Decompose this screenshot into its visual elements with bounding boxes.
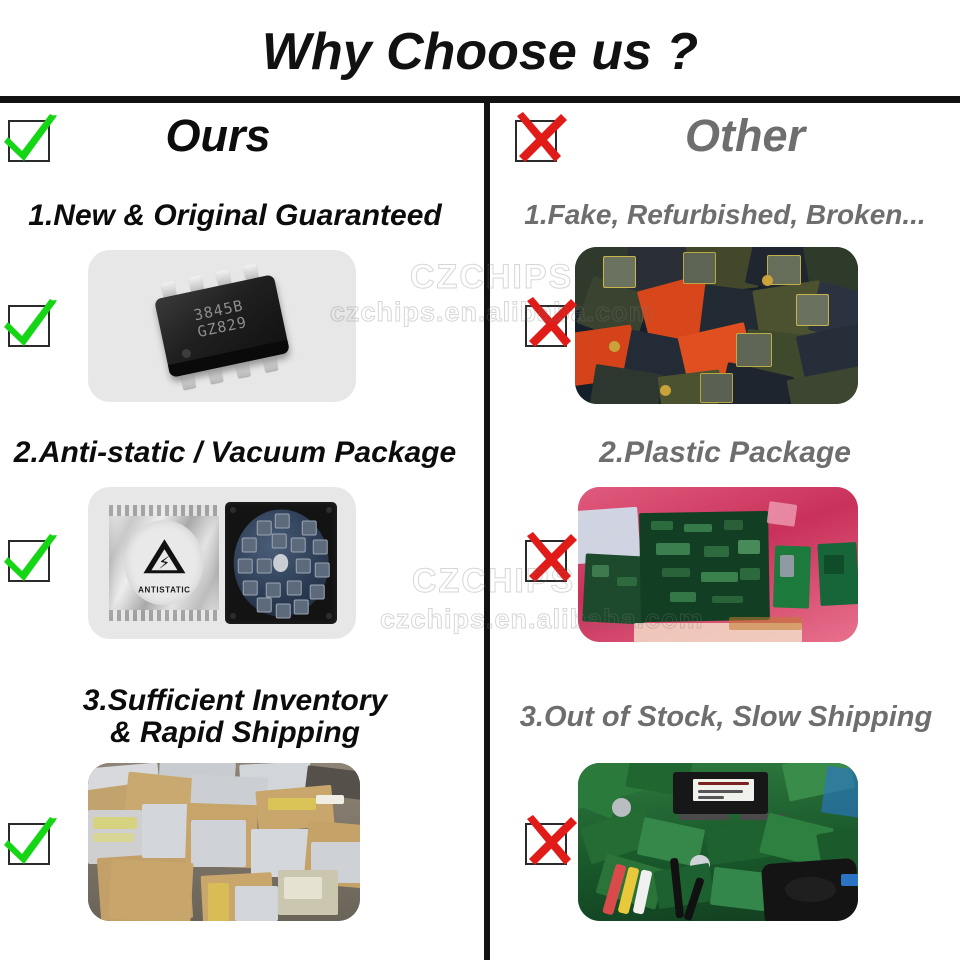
column-divider	[484, 96, 490, 960]
lightning-bolt-icon: ⚡	[158, 554, 170, 571]
why-choose-us-infographic: Why Choose us ? Ours Other 1.New & Origi…	[0, 0, 960, 960]
plastic-bag-pcb-mosaic	[578, 487, 858, 642]
row-3-ours-heading-line1: 3.Sufficient Inventory	[0, 685, 470, 717]
antistatic-label: ANTISTATIC	[125, 585, 204, 594]
row-2-other-image	[578, 487, 858, 642]
row-3-ours-heading: 3.Sufficient Inventory & Rapid Shipping	[0, 685, 470, 748]
row-3-ours-heading-line2: & Rapid Shipping	[0, 717, 470, 749]
row-2-check-mark-icon	[8, 540, 50, 582]
row-3-other-heading: 3.Out of Stock, Slow Shipping	[495, 702, 957, 732]
row-1-ours-image: 3845B GZ829	[88, 250, 356, 402]
row-1-other-image	[575, 247, 858, 404]
row-3-cross-mark-icon	[525, 823, 567, 865]
soic8-chip-illustration: 3845B GZ829	[138, 260, 306, 393]
row-3-ours-image	[88, 763, 360, 921]
row-1-check-mark-icon	[8, 305, 50, 347]
scrap-chip-pile-mosaic	[575, 247, 858, 404]
row-2-ours-heading: 2.Anti-static / Vacuum Package	[0, 437, 470, 469]
cartons-mosaic	[88, 763, 360, 921]
antistatic-bag-illustration: ⚡ ANTISTATIC	[109, 505, 219, 621]
tape-reel-illustration	[225, 502, 338, 624]
row-1-ours-heading: 1.New & Original Guaranteed	[0, 200, 470, 232]
other-label: Other	[510, 110, 960, 162]
row-2-cross-mark-icon	[525, 540, 567, 582]
row-1-cross-mark-icon	[525, 305, 567, 347]
row-2-ours-image: ⚡ ANTISTATIC	[88, 487, 356, 639]
scrap-pcb-pile-mosaic	[578, 763, 858, 921]
row-1-other-heading: 1.Fake, Refurbished, Broken...	[495, 200, 955, 229]
ours-label: Ours	[0, 110, 460, 162]
page-title: Why Choose us ?	[0, 22, 960, 82]
column-header-other: Other	[490, 106, 960, 178]
row-3-other-image	[578, 763, 858, 921]
esd-label-disc: ⚡ ANTISTATIC	[125, 520, 204, 605]
column-header-ours: Ours	[0, 106, 484, 178]
row-2-other-heading: 2.Plastic Package	[495, 437, 955, 469]
row-3-check-mark-icon	[8, 823, 50, 865]
header-divider	[0, 96, 960, 103]
